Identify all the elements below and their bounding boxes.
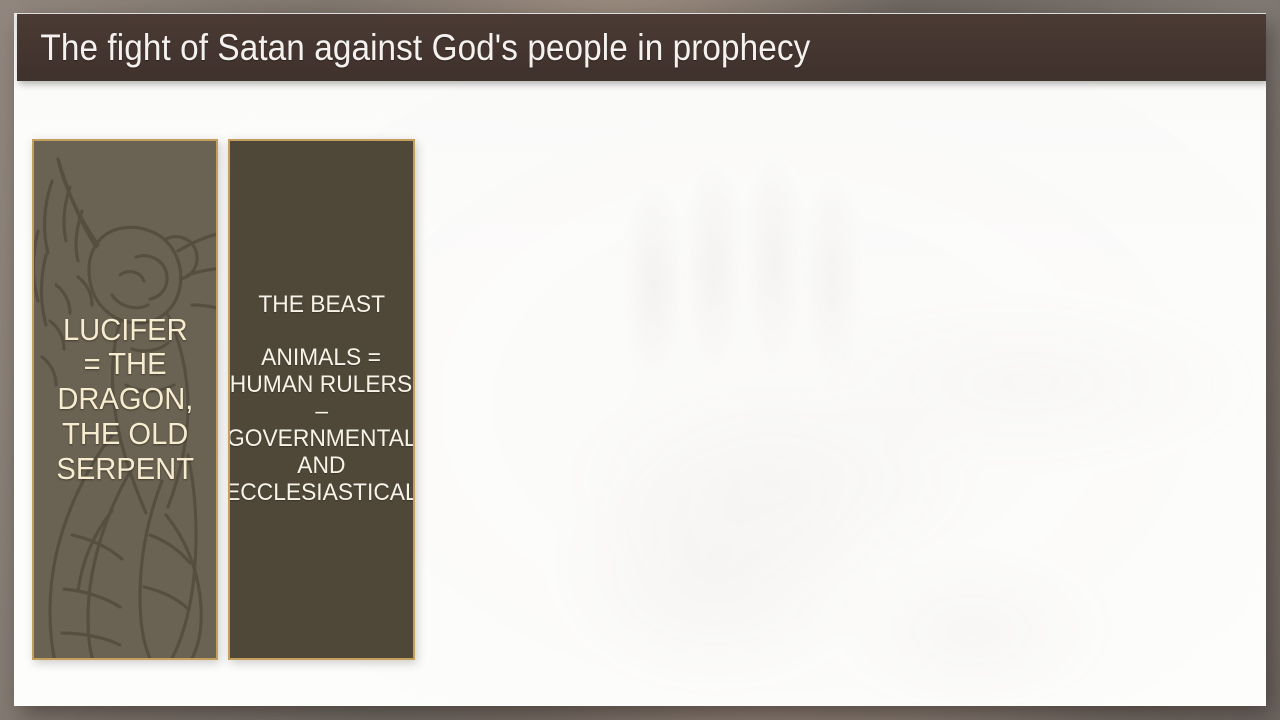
box-line: LUCIFER	[63, 313, 188, 348]
box-line: SERPENT	[56, 452, 194, 487]
box-line: HUMAN RULERS	[230, 372, 412, 399]
box-line: DRAGON,	[57, 382, 193, 417]
box-line: = THE	[84, 347, 167, 382]
box-line: THE BEAST	[258, 292, 385, 319]
slide-canvas: The fight of Satan against God's people …	[14, 13, 1266, 706]
box-line: AND	[297, 453, 345, 480]
presentation-backdrop: The fight of Satan against God's people …	[0, 0, 1280, 720]
concept-box-beast-text: THE BEAST ANIMALS = HUMAN RULERS – GOVER…	[230, 141, 413, 658]
concept-box-lucifer[interactable]: LUCIFER = THE DRAGON, THE OLD SERPENT	[32, 139, 218, 660]
box-line: ANIMALS =	[262, 345, 382, 372]
concept-box-lucifer-text: LUCIFER = THE DRAGON, THE OLD SERPENT	[34, 141, 216, 658]
box-line: ECCLESIASTICAL	[228, 480, 415, 507]
slide-title-bar: The fight of Satan against God's people …	[17, 14, 1266, 81]
box-line: GOVERNMENTAL	[228, 426, 415, 453]
box-line: THE OLD	[62, 417, 188, 452]
box-line-dash: –	[315, 399, 328, 426]
concept-box-beast[interactable]: THE BEAST ANIMALS = HUMAN RULERS – GOVER…	[228, 139, 415, 660]
page-title: The fight of Satan against God's people …	[17, 27, 810, 69]
